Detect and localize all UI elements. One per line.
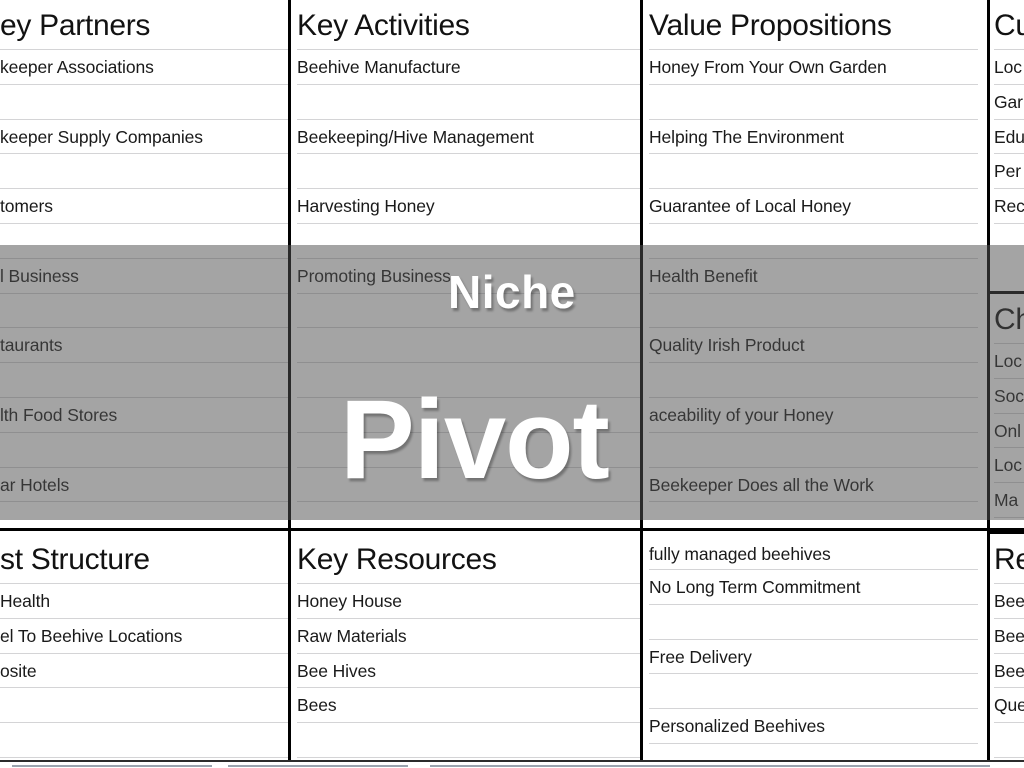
overlay-word-pivot: Pivot [340, 385, 609, 495]
cost-structure-item[interactable]: Health [0, 584, 288, 619]
key-partners-item[interactable]: l Business [0, 259, 288, 294]
key-partners-item[interactable] [0, 85, 288, 120]
cost-structure-item[interactable]: el To Beehive Locations [0, 619, 288, 654]
key-resources-title: Key Resources [297, 534, 640, 584]
business-model-canvas: ey Partners keeper Associations keeper S… [0, 0, 1024, 768]
key-activities-item[interactable]: Beekeeping/Hive Management [297, 120, 640, 155]
frame-tick [430, 765, 990, 767]
value-propositions-item[interactable]: Health Benefit [649, 259, 978, 294]
column-customer-segments: Cu Loc Gar Edu Per Rec [990, 0, 1024, 288]
key-resources-item[interactable] [297, 723, 640, 758]
column-key-resources: Key Resources Honey House Raw Materials … [291, 534, 640, 760]
channels-item[interactable]: Onl [994, 414, 1024, 449]
overlay-word-niche: Niche [448, 265, 576, 319]
value-propositions-item[interactable] [649, 85, 978, 120]
value-propositions-lower-item[interactable] [649, 605, 978, 640]
key-partners-title: ey Partners [0, 0, 288, 50]
key-partners-item[interactable]: tomers [0, 189, 288, 224]
column-divider-1 [288, 0, 291, 760]
column-divider-2 [640, 0, 643, 760]
key-activities-item[interactable]: Harvesting Honey [297, 189, 640, 224]
value-propositions-item[interactable] [649, 224, 978, 259]
key-partners-item[interactable]: keeper Associations [0, 50, 288, 85]
column-divider-3 [987, 0, 990, 760]
bottom-frame-strip [0, 760, 1024, 768]
value-propositions-title: Value Propositions [649, 0, 978, 50]
cost-structure-item[interactable] [0, 723, 288, 758]
customer-segments-item[interactable]: Gar [994, 85, 1024, 120]
revenue-streams-item[interactable]: Bee [994, 619, 1024, 654]
key-activities-item[interactable] [297, 224, 640, 259]
column-channels: Ch Loc Soc Onl Loc Ma [990, 294, 1024, 520]
value-propositions-item[interactable]: Helping The Environment [649, 120, 978, 155]
value-propositions-item[interactable] [649, 433, 978, 468]
key-activities-item[interactable] [297, 85, 640, 120]
channels-item[interactable]: Ma [994, 483, 1024, 518]
key-resources-item[interactable]: Raw Materials [297, 619, 640, 654]
key-activities-item[interactable] [297, 154, 640, 189]
key-resources-item[interactable]: Bees [297, 688, 640, 723]
key-partners-item[interactable]: ar Hotels [0, 468, 288, 503]
key-partners-item[interactable] [0, 224, 288, 259]
key-partners-item[interactable]: lth Food Stores [0, 398, 288, 433]
customer-segments-item[interactable]: Loc [994, 50, 1024, 85]
value-propositions-item[interactable]: Beekeeper Does all the Work [649, 468, 978, 503]
channels-item[interactable]: Loc [994, 448, 1024, 483]
column-cost-structure: st Structure Health el To Beehive Locati… [0, 534, 288, 760]
revenue-streams-item[interactable] [994, 723, 1024, 758]
revenue-streams-title: Re [994, 534, 1024, 584]
value-propositions-lower-item[interactable]: fully managed beehives [649, 534, 978, 570]
channels-item[interactable]: Loc [994, 344, 1024, 379]
value-propositions-item[interactable]: aceability of your Honey [649, 398, 978, 433]
value-propositions-lower-item[interactable]: No Long Term Commitment [649, 570, 978, 605]
column-value-propositions-lower: fully managed beehives No Long Term Comm… [643, 534, 978, 760]
value-propositions-lower-item[interactable]: Personalized Beehives [649, 709, 978, 744]
key-partners-item[interactable]: taurants [0, 328, 288, 363]
value-propositions-item[interactable] [649, 363, 978, 398]
cost-structure-title: st Structure [0, 534, 288, 584]
key-activities-item[interactable]: Beehive Manufacture [297, 50, 640, 85]
cost-structure-item[interactable]: osite [0, 654, 288, 689]
customer-segments-title: Cu [994, 0, 1024, 50]
channels-title: Ch [994, 294, 1024, 344]
channels-item[interactable]: Soc [994, 379, 1024, 414]
customer-segments-item[interactable]: Edu [994, 120, 1024, 155]
value-propositions-item[interactable] [649, 294, 978, 329]
band-divider-revenue [987, 531, 1024, 534]
cost-structure-item[interactable] [0, 688, 288, 723]
value-propositions-item[interactable]: Quality Irish Product [649, 328, 978, 363]
revenue-streams-item[interactable]: Bee [994, 584, 1024, 619]
key-activities-item[interactable] [297, 328, 640, 363]
key-partners-item[interactable] [0, 433, 288, 468]
revenue-streams-item[interactable]: Bee [994, 654, 1024, 689]
revenue-streams-item[interactable]: Que [994, 688, 1024, 723]
band-divider-main [0, 528, 1024, 531]
value-propositions-item[interactable]: Honey From Your Own Garden [649, 50, 978, 85]
key-partners-item[interactable] [0, 294, 288, 329]
key-resources-item[interactable]: Honey House [297, 584, 640, 619]
column-value-propositions: Value Propositions Honey From Your Own G… [643, 0, 978, 522]
key-activities-title: Key Activities [297, 0, 640, 50]
key-resources-item[interactable]: Bee Hives [297, 654, 640, 689]
value-propositions-lower-item[interactable]: Free Delivery [649, 640, 978, 675]
key-partners-item[interactable]: keeper Supply Companies [0, 120, 288, 155]
band-divider-channels [987, 291, 1024, 294]
key-partners-item[interactable] [0, 154, 288, 189]
frame-tick [228, 765, 408, 767]
column-revenue-streams: Re Bee Bee Bee Que [990, 534, 1024, 760]
frame-tick [12, 765, 212, 767]
column-key-partners: ey Partners keeper Associations keeper S… [0, 0, 288, 522]
customer-segments-item[interactable]: Rec [994, 189, 1024, 224]
value-propositions-lower-item[interactable] [649, 674, 978, 709]
key-partners-item[interactable] [0, 363, 288, 398]
value-propositions-item[interactable] [649, 154, 978, 189]
customer-segments-item[interactable]: Per [994, 154, 1024, 189]
value-propositions-item[interactable]: Guarantee of Local Honey [649, 189, 978, 224]
